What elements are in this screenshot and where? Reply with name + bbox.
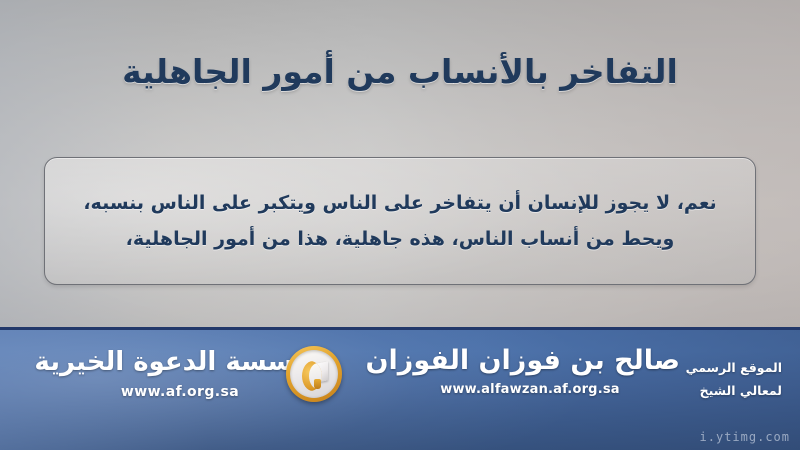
slide-canvas: التفاخر بالأنساب من أمور الجاهلية نعم، ل…: [0, 0, 800, 450]
footer-band: مؤسسة الدعوة الخيرية www.af.org.sa الموق…: [0, 327, 800, 450]
official-site-label-line1: الموقع الرسمي: [686, 356, 782, 379]
quote-line-2: ويحط من أنساب الناس، هذه جاهلية، هذا من …: [126, 228, 675, 251]
crescent-book-emblem-icon: [286, 346, 342, 402]
quote-line-1: نعم، لا يجوز للإنسان أن يتفاخر على الناس…: [83, 192, 716, 215]
emblem-ring: [290, 350, 338, 398]
official-site-label: الموقع الرسمي لمعالي الشيخ: [686, 356, 782, 402]
official-site-label-line2: لمعالي الشيخ: [686, 379, 782, 402]
footer-content: مؤسسة الدعوة الخيرية www.af.org.sa الموق…: [0, 330, 800, 450]
quote-box: نعم، لا يجوز للإنسان أن يتفاخر على الناس…: [44, 157, 756, 285]
watermark-label: i.ytimg.com: [700, 430, 790, 444]
sheikh-url[interactable]: www.alfawzan.af.org.sa: [380, 382, 680, 397]
emblem-stem: [314, 379, 321, 389]
page-title: التفاخر بالأنساب من أمور الجاهلية: [0, 50, 800, 95]
sheikh-block: صالح بن فوزان الفوزان www.alfawzan.af.or…: [380, 344, 680, 397]
sheikh-name: صالح بن فوزان الفوزان: [380, 344, 680, 378]
